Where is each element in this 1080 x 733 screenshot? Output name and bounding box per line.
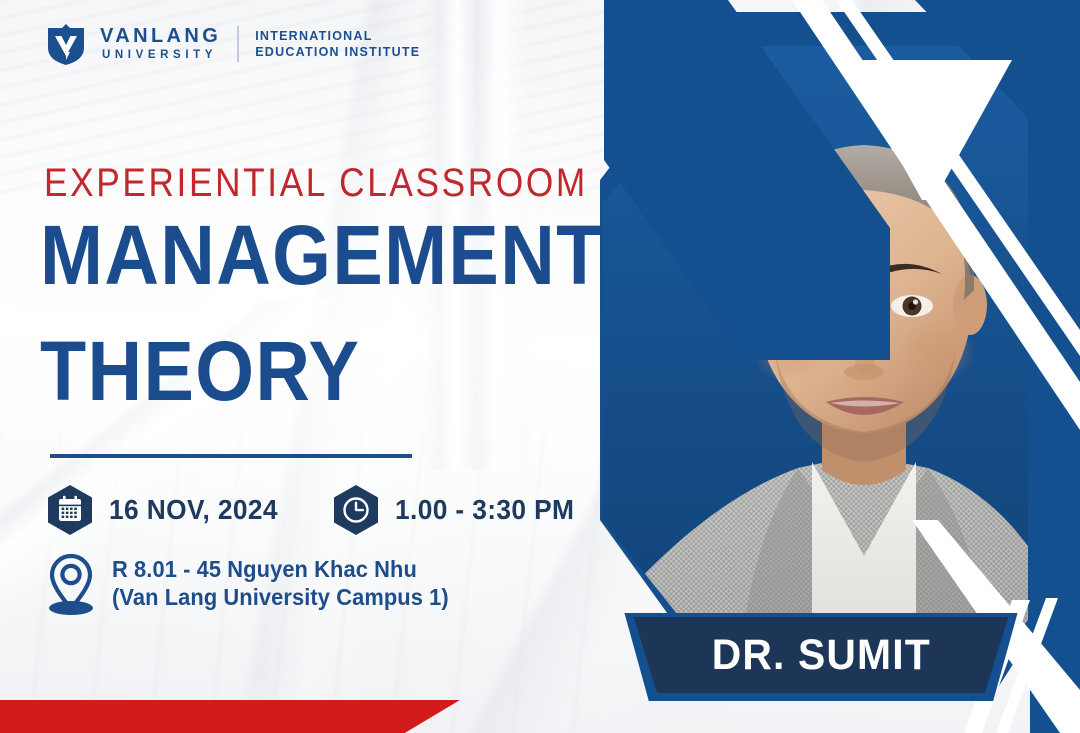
location-line-1: R 8.01 - 45 Nguyen Khac Nhu — [112, 556, 449, 584]
red-accent-bar — [0, 700, 460, 733]
page-title: MANAGEMENT THEORY — [40, 213, 640, 413]
eyebrow-text: EXPERIENTIAL CLASSROOM — [44, 161, 588, 206]
speaker-name-banner: DR. SUMIT — [621, 617, 1021, 693]
title-line-2: THEORY — [40, 329, 580, 413]
university-name-top: VANLANG — [100, 26, 221, 46]
title-divider-rule — [50, 454, 412, 458]
event-location-text: R 8.01 - 45 Nguyen Khac Nhu (Van Lang Un… — [112, 556, 466, 611]
institute-name: INTERNATIONAL EDUCATION INSTITUTE — [255, 28, 420, 60]
map-pin-icon — [44, 553, 98, 615]
event-date-text: 16 NOV, 2024 — [109, 494, 278, 526]
vanlang-shield-icon — [46, 22, 86, 66]
university-wordmark: VANLANG UNIVERSITY — [100, 26, 221, 62]
speaker-name: DR. SUMIT — [711, 631, 930, 680]
location-line-2: (Van Lang University Campus 1) — [112, 584, 449, 612]
clock-icon — [330, 484, 382, 536]
event-meta-row: 16 NOV, 2024 1.00 - 3:30 PM — [44, 484, 586, 536]
brand-lockup: VANLANG UNIVERSITY INTERNATIONAL EDUCATI… — [46, 22, 420, 66]
event-time-text: 1.00 - 3:30 PM — [395, 494, 574, 526]
event-time: 1.00 - 3:30 PM — [330, 484, 586, 536]
event-date: 16 NOV, 2024 — [44, 484, 289, 536]
title-line-1: MANAGEMENT — [40, 213, 580, 297]
university-name-bottom: UNIVERSITY — [100, 50, 221, 62]
calendar-icon — [44, 484, 96, 536]
event-location: R 8.01 - 45 Nguyen Khac Nhu (Van Lang Un… — [44, 553, 466, 615]
institute-line-2: EDUCATION INSTITUTE — [255, 44, 420, 60]
event-poster: VANLANG UNIVERSITY INTERNATIONAL EDUCATI… — [0, 0, 1080, 733]
logo-divider — [237, 26, 239, 62]
poster-content: VANLANG UNIVERSITY INTERNATIONAL EDUCATI… — [0, 0, 640, 733]
institute-line-1: INTERNATIONAL — [255, 28, 420, 44]
